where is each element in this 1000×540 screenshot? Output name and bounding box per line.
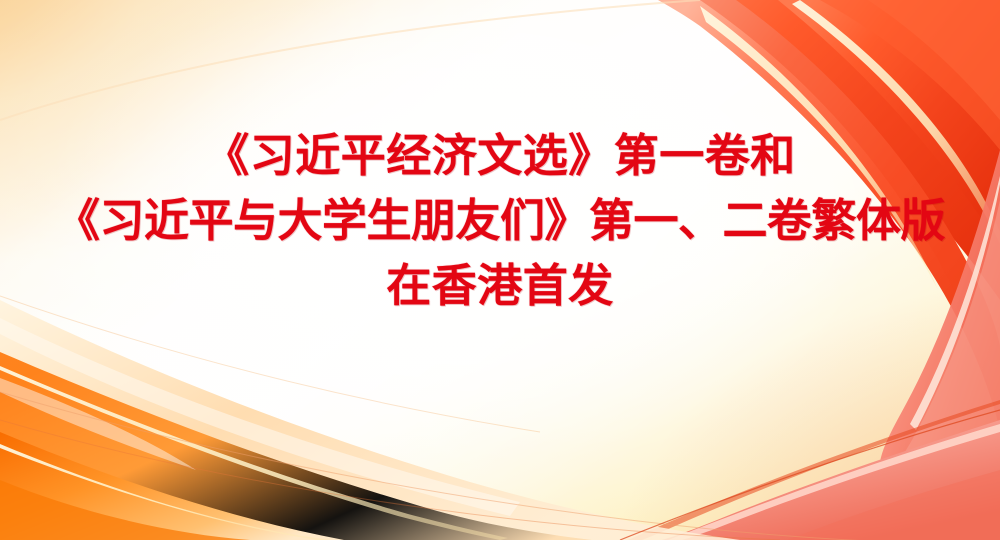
title-line-3: 在香港首发 bbox=[0, 264, 1000, 309]
ribbon-bottom-left-group bbox=[0, 300, 740, 540]
ribbon-bottom-right-group bbox=[628, 400, 1000, 540]
announcement-banner: 《习近平经济文选》第一卷和 《习近平与大学生朋友们》第一、二卷繁体版 在香港首发 bbox=[0, 0, 1000, 540]
banner-title: 《习近平经济文选》第一卷和 《习近平与大学生朋友们》第一、二卷繁体版 在香港首发 bbox=[0, 134, 1000, 309]
hairline-top-1 bbox=[0, 0, 700, 120]
decorative-top-left-curve bbox=[0, 0, 700, 120]
title-line-2: 《习近平与大学生朋友们》第一、二卷繁体版 bbox=[0, 199, 1000, 244]
title-line-1: 《习近平经济文选》第一卷和 bbox=[0, 134, 1000, 179]
